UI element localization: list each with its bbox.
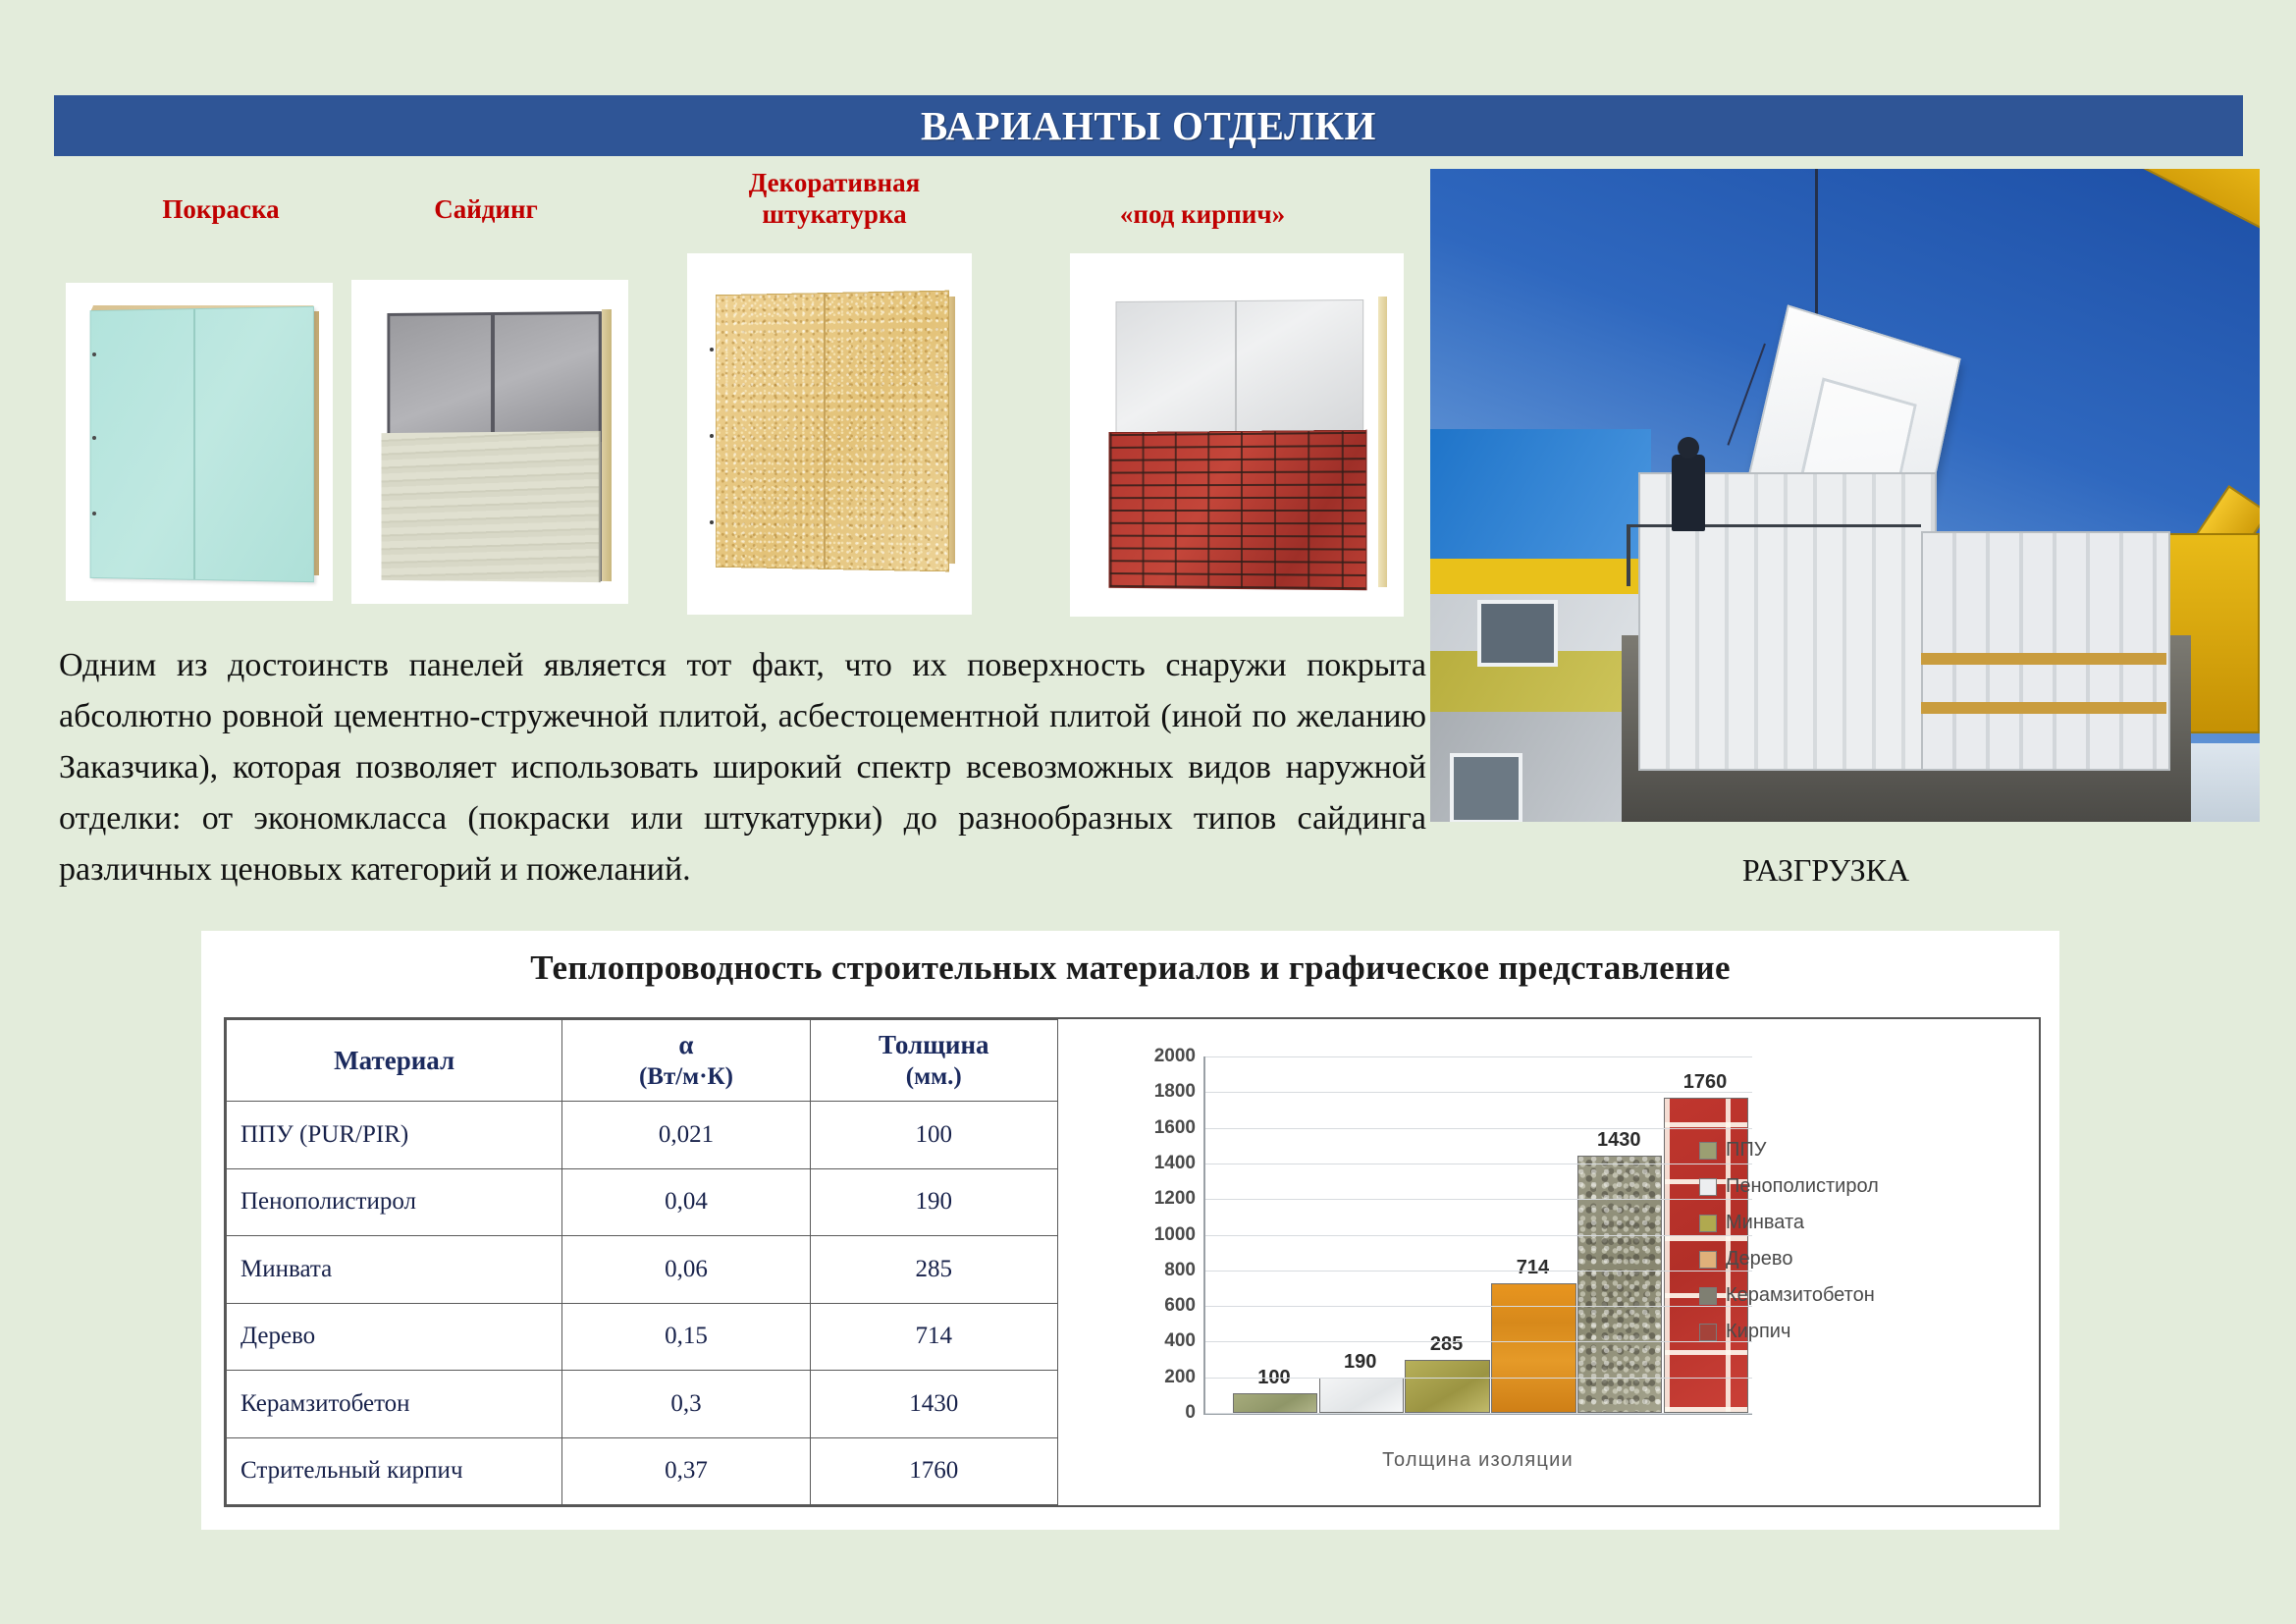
chart-bar bbox=[1577, 1156, 1662, 1413]
chart-bar bbox=[1405, 1360, 1489, 1413]
cell-alpha: 0,37 bbox=[562, 1437, 810, 1505]
chart-xaxis-label: Толщина изоляции bbox=[1203, 1449, 1752, 1472]
chart-legend-label: Керамзитобетон bbox=[1726, 1284, 1875, 1307]
chart-bar bbox=[1319, 1378, 1404, 1413]
chart-gridline: 800 bbox=[1205, 1271, 1752, 1272]
painted-panel-image bbox=[66, 283, 333, 601]
chart-ytick-label: 200 bbox=[1164, 1367, 1196, 1388]
cell-thickness: 1760 bbox=[810, 1437, 1057, 1505]
painted-panel-graphic bbox=[66, 283, 333, 601]
table-header-row: Материал α (Вт/м·К) Толщина (мм.) bbox=[227, 1020, 1058, 1102]
panel-siding-face bbox=[382, 431, 601, 582]
panel-face bbox=[89, 306, 314, 583]
table-row: ППУ (PUR/PIR) 0,021 100 bbox=[227, 1102, 1058, 1169]
table-row: Пенополистирол 0,04 190 bbox=[227, 1168, 1058, 1236]
chart-ytick-label: 0 bbox=[1185, 1402, 1196, 1424]
stucco-panel-graphic bbox=[687, 253, 972, 615]
cell-material: Стрительный кирпич bbox=[227, 1437, 562, 1505]
chart-legend-label: ППУ bbox=[1726, 1139, 1766, 1162]
cell-alpha: 0,06 bbox=[562, 1236, 810, 1304]
chart-legend-swatch bbox=[1699, 1215, 1717, 1232]
chart-ytick-label: 400 bbox=[1164, 1330, 1196, 1352]
building-window bbox=[1477, 600, 1558, 667]
chart-bar bbox=[1233, 1393, 1317, 1413]
cell-thickness: 190 bbox=[810, 1168, 1057, 1236]
thermal-conductivity-card: Теплопроводность строительных материалов… bbox=[201, 931, 2059, 1530]
chart-ytick-label: 800 bbox=[1164, 1260, 1196, 1281]
chart-legend-item: Дерево bbox=[1699, 1248, 1945, 1271]
finish-label-row: Покраска Сайдинг Декоративная штукатурка… bbox=[54, 162, 1428, 241]
slide-title-bar: ВАРИАНТЫ ОТДЕЛКИ bbox=[54, 95, 2243, 156]
chart-legend-item: Минвата bbox=[1699, 1212, 1945, 1234]
panel-fastener-dot bbox=[92, 436, 96, 440]
cell-material: Дерево bbox=[227, 1303, 562, 1371]
chart-data-label: 1430 bbox=[1575, 1129, 1662, 1152]
background-building bbox=[1430, 429, 1651, 822]
cargo-strap bbox=[1921, 653, 2166, 665]
building-window bbox=[1450, 753, 1522, 822]
table-row: Дерево 0,15 714 bbox=[227, 1303, 1058, 1371]
panel-side-edge bbox=[602, 309, 612, 581]
body-paragraph: Одним из достоинств панелей является тот… bbox=[59, 640, 1426, 895]
chart-legend: ППУПенополистиролМинватаДеревоКерамзитоб… bbox=[1699, 1139, 1945, 1357]
table-row: Стрительный кирпич 0,37 1760 bbox=[227, 1437, 1058, 1505]
crane-cable bbox=[1815, 169, 1818, 326]
table-row: Минвата 0,06 285 bbox=[227, 1236, 1058, 1304]
chart-gridline: 1200 bbox=[1205, 1199, 1752, 1200]
panel-seam bbox=[1235, 301, 1237, 436]
cell-material: Пенополистирол bbox=[227, 1168, 562, 1236]
chart-ytick-label: 1600 bbox=[1154, 1117, 1196, 1139]
column-header-thickness-unit: (мм.) bbox=[817, 1063, 1051, 1091]
chart-ytick-label: 2000 bbox=[1154, 1046, 1196, 1067]
chart-legend-item: Кирпич bbox=[1699, 1321, 1945, 1343]
worker-figure bbox=[1672, 455, 1705, 531]
table-row: Керамзитобетон 0,3 1430 bbox=[227, 1371, 1058, 1438]
chart-legend-item: Керамзитобетон bbox=[1699, 1284, 1945, 1307]
chart-gridline: 400 bbox=[1205, 1341, 1752, 1342]
chart-legend-swatch bbox=[1699, 1251, 1717, 1269]
chart-legend-swatch bbox=[1699, 1324, 1717, 1341]
building-yellow-band bbox=[1430, 559, 1651, 594]
chart-gridline: 200 bbox=[1205, 1378, 1752, 1379]
chart-legend-item: ППУ bbox=[1699, 1139, 1945, 1162]
finish-label-dekorativnaya-shtukaturka: Декоративная штукатурка bbox=[687, 168, 982, 231]
chart-ytick-label: 1000 bbox=[1154, 1224, 1196, 1246]
panel-seam bbox=[193, 309, 195, 579]
cell-material: Керамзитобетон bbox=[227, 1371, 562, 1438]
chart-plot-area: 10019028571414301760 0200400600800100012… bbox=[1203, 1056, 1752, 1415]
panel-upper-face bbox=[387, 311, 602, 442]
chart-legend-label: Минвата bbox=[1726, 1212, 1804, 1234]
page-title: ВАРИАНТЫ ОТДЕЛКИ bbox=[921, 102, 1376, 149]
cargo-strap bbox=[1921, 702, 2166, 714]
panel-fastener-dot bbox=[710, 434, 714, 438]
panel-seam bbox=[824, 295, 826, 568]
card-title: Теплопроводность строительных материалов… bbox=[201, 948, 2059, 988]
chart-legend-label: Кирпич bbox=[1726, 1321, 1790, 1343]
cell-alpha: 0,04 bbox=[562, 1168, 810, 1236]
cell-alpha: 0,15 bbox=[562, 1303, 810, 1371]
worker-head bbox=[1678, 437, 1699, 459]
chart-gridline: 0 bbox=[1205, 1413, 1752, 1414]
cell-material: Минвата bbox=[227, 1236, 562, 1304]
column-header-material: Материал bbox=[227, 1020, 562, 1102]
unloading-photo bbox=[1430, 169, 2260, 822]
brick-panel-graphic bbox=[1070, 253, 1404, 617]
chart-ytick-label: 600 bbox=[1164, 1295, 1196, 1317]
chart-legend-swatch bbox=[1699, 1178, 1717, 1196]
chart-bar bbox=[1491, 1283, 1575, 1413]
brick-panel-image bbox=[1070, 253, 1404, 617]
insulation-thickness-chart: 10019028571414301760 0200400600800100012… bbox=[1058, 1019, 2039, 1505]
panel-face bbox=[716, 291, 949, 571]
column-header-alpha: α (Вт/м·К) bbox=[562, 1020, 810, 1102]
siding-panel-graphic bbox=[351, 280, 628, 604]
chart-gridline: 1800 bbox=[1205, 1092, 1752, 1093]
column-header-alpha-unit: (Вт/м·К) bbox=[568, 1063, 803, 1091]
cell-thickness: 714 bbox=[810, 1303, 1057, 1371]
scaffold-railing bbox=[1627, 524, 1921, 527]
cell-alpha: 0,021 bbox=[562, 1102, 810, 1169]
stacked-panels-secondary bbox=[1921, 531, 2170, 771]
slide-root: ВАРИАНТЫ ОТДЕЛКИ Покраска Сайдинг Декора… bbox=[0, 0, 2296, 1624]
column-header-thickness: Толщина (мм.) bbox=[810, 1020, 1057, 1102]
chart-gridline: 1400 bbox=[1205, 1164, 1752, 1164]
chart-legend-swatch bbox=[1699, 1287, 1717, 1305]
panel-fastener-dot bbox=[710, 520, 714, 524]
chart-ytick-label: 1400 bbox=[1154, 1153, 1196, 1174]
card-inner-frame: Материал α (Вт/м·К) Толщина (мм.) bbox=[224, 1017, 2041, 1507]
panel-seam bbox=[491, 315, 495, 438]
chart-data-label: 285 bbox=[1404, 1333, 1490, 1356]
chart-legend-label: Пенополистирол bbox=[1726, 1175, 1879, 1198]
cell-thickness: 1430 bbox=[810, 1371, 1057, 1438]
chart-legend-label: Дерево bbox=[1726, 1248, 1792, 1271]
column-header-thickness-label: Толщина bbox=[879, 1030, 989, 1059]
photo-caption: РАЗГРУЗКА bbox=[1629, 852, 2022, 889]
chart-gridline: 2000 bbox=[1205, 1056, 1752, 1057]
column-header-material-label: Материал bbox=[334, 1046, 454, 1075]
chart-gridline: 600 bbox=[1205, 1306, 1752, 1307]
column-header-alpha-label: α bbox=[678, 1030, 693, 1059]
chart-gridline: 1000 bbox=[1205, 1235, 1752, 1236]
panel-side-edge bbox=[1378, 297, 1387, 587]
chart-ytick-label: 1800 bbox=[1154, 1081, 1196, 1103]
chart-data-label: 714 bbox=[1489, 1257, 1575, 1279]
panel-fastener-dot bbox=[710, 348, 714, 352]
stucco-panel-image bbox=[687, 253, 972, 615]
cell-thickness: 100 bbox=[810, 1102, 1057, 1169]
cell-alpha: 0,3 bbox=[562, 1371, 810, 1438]
finish-label-sajding: Сайдинг bbox=[378, 194, 594, 226]
chart-data-label: 1760 bbox=[1662, 1071, 1748, 1094]
cell-thickness: 285 bbox=[810, 1236, 1057, 1304]
thermal-conductivity-table: Материал α (Вт/м·К) Толщина (мм.) bbox=[226, 1019, 1058, 1505]
building-blue-band bbox=[1430, 429, 1651, 559]
finish-label-pokraska: Покраска bbox=[108, 194, 334, 226]
scaffold-post bbox=[1627, 525, 1630, 586]
panel-upper-face bbox=[1116, 299, 1363, 438]
chart-gridline: 1600 bbox=[1205, 1128, 1752, 1129]
chart-data-label: 190 bbox=[1317, 1351, 1404, 1374]
chart-ytick-label: 1200 bbox=[1154, 1188, 1196, 1210]
finish-label-pod-kirpich: «под кирпич» bbox=[1055, 199, 1350, 231]
siding-panel-image bbox=[351, 280, 628, 604]
chart-legend-item: Пенополистирол bbox=[1699, 1175, 1945, 1198]
panel-brick-face bbox=[1109, 430, 1366, 591]
chart-legend-swatch bbox=[1699, 1142, 1717, 1160]
cell-material: ППУ (PUR/PIR) bbox=[227, 1102, 562, 1169]
